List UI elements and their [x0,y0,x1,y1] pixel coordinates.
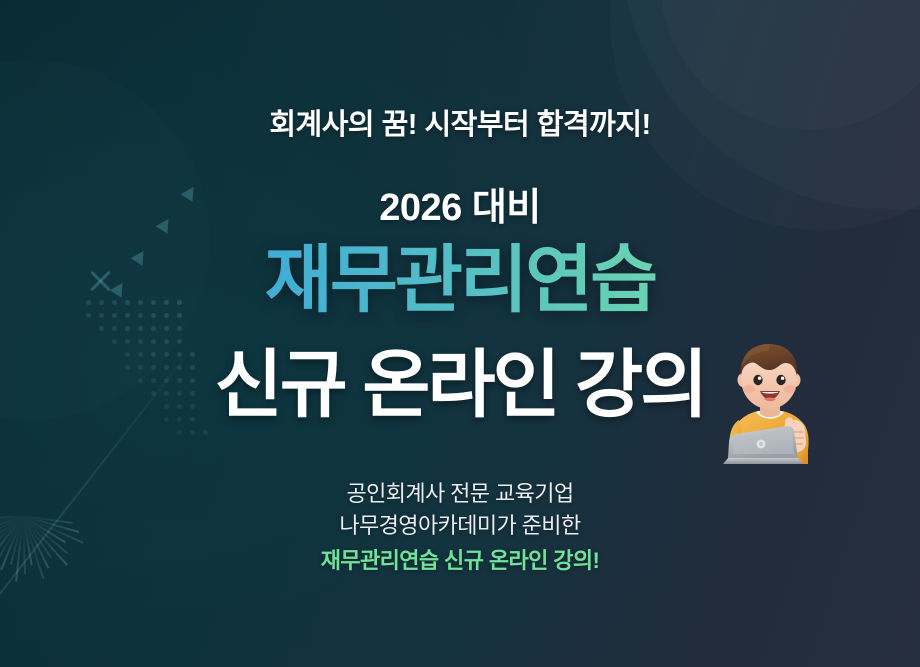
student-with-laptop-icon [706,336,832,464]
eyebrow-text: 회계사의 꿈! 시작부터 합격까지! [0,101,920,143]
year-label: 2026 대비 [0,176,920,231]
footer-line-2: 나무경영아카데미가 준비한 [0,510,920,542]
promo-banner: 회계사의 꿈! 시작부터 합격까지! 2026 대비 재무관리연습 신규 온라인… [0,0,920,667]
footer-description: 공인회계사 전문 교육기업 나무경영아카데미가 준비한 재무관리연습 신규 온라… [0,478,920,577]
banner-content: 회계사의 꿈! 시작부터 합격까지! 2026 대비 재무관리연습 신규 온라인… [0,0,920,667]
footer-line-1: 공인회계사 전문 교육기업 [0,478,920,510]
headline-primary: 재무관리연습 [0,243,920,317]
footer-line-accent: 재무관리연습 신규 온라인 강의! [0,545,920,577]
